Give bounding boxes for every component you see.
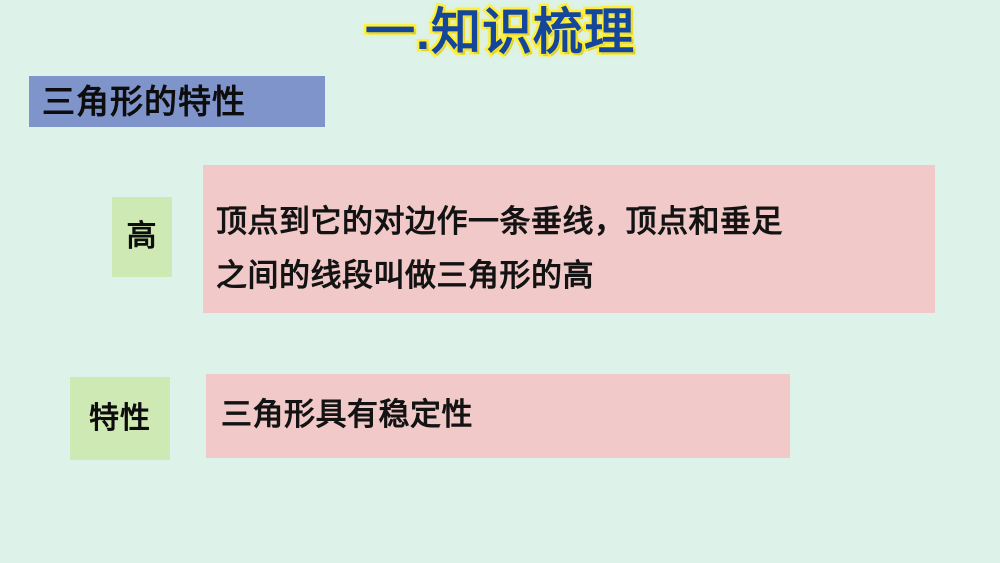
row-label-chip-texing: 特性 xyxy=(70,377,170,460)
row-label-text-gao: 高 xyxy=(127,221,158,253)
row-content-text-texing: 三角形具有稳定性 xyxy=(206,374,790,441)
row-content-panel-texing: 三角形具有稳定性 xyxy=(206,374,790,458)
row-content-text-gao: 顶点到它的对边作一条垂线，顶点和垂足 之间的线段叫做三角形的高 xyxy=(203,165,935,303)
section-header-chip: 三角形的特性 xyxy=(29,76,325,127)
row-label-text-texing: 特性 xyxy=(89,403,151,435)
row-label-chip-gao: 高 xyxy=(112,197,172,277)
slide-canvas: 一.知识梳理 三角形的特性 高 顶点到它的对边作一条垂线，顶点和垂足 之间的线段… xyxy=(0,0,1000,563)
page-title: 一.知识梳理 xyxy=(0,4,1000,60)
section-header-label: 三角形的特性 xyxy=(42,85,246,119)
row-content-panel-gao: 顶点到它的对边作一条垂线，顶点和垂足 之间的线段叫做三角形的高 xyxy=(203,165,935,313)
